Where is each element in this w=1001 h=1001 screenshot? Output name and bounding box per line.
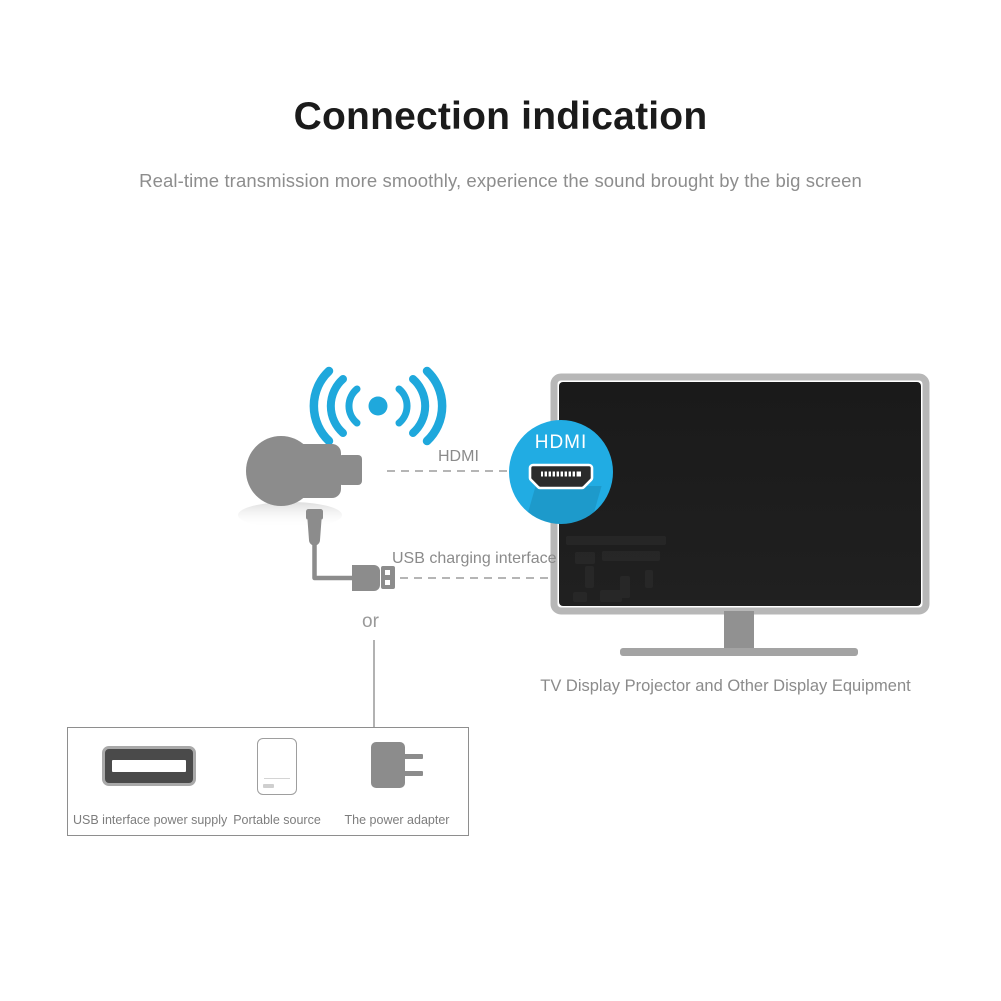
power-option-label: The power adapter bbox=[329, 813, 465, 827]
monitor-stand-base bbox=[620, 648, 858, 656]
portable-battery-icon bbox=[257, 738, 297, 795]
monitor-screen bbox=[559, 382, 921, 606]
page-subtitle: Real-time transmission more smoothly, ex… bbox=[0, 170, 1001, 192]
tv-monitor-icon bbox=[554, 377, 926, 656]
wifi-center-dot bbox=[369, 397, 388, 416]
power-options-box: USB interface power supply Portable sour… bbox=[67, 727, 469, 836]
power-cable bbox=[315, 540, 353, 578]
illustration-canvas: Connection indication Real-time transmis… bbox=[0, 0, 1001, 1001]
adapter-body bbox=[371, 742, 405, 788]
hdmi-badge-label: HDMI bbox=[509, 432, 613, 454]
power-option-label: Portable source bbox=[225, 813, 329, 827]
power-option-usb[interactable]: USB interface power supply bbox=[73, 728, 225, 837]
power-option-adapter[interactable]: The power adapter bbox=[329, 728, 465, 837]
hdmi-badge[interactable]: HDMI bbox=[509, 420, 613, 524]
usb-connection-label: USB charging interface bbox=[392, 550, 557, 568]
monitor-stand-neck bbox=[724, 611, 754, 653]
usb-port-icon bbox=[102, 746, 196, 786]
hdmi-dongle-icon bbox=[246, 436, 362, 506]
adapter-prong-top bbox=[404, 754, 423, 759]
power-option-portable[interactable]: Portable source bbox=[225, 728, 329, 837]
hdmi-connection-label: HDMI bbox=[438, 448, 479, 466]
wifi-waves-icon bbox=[314, 371, 442, 441]
power-adapter-icon bbox=[371, 740, 423, 792]
tv-caption: TV Display Projector and Other Display E… bbox=[0, 677, 1001, 696]
or-label: or bbox=[362, 611, 379, 633]
page-title: Connection indication bbox=[0, 96, 1001, 139]
usb-a-plug-icon bbox=[352, 565, 395, 591]
power-option-label: USB interface power supply bbox=[73, 813, 225, 827]
diagram-artwork bbox=[0, 0, 1001, 1001]
dongle-shadow bbox=[238, 502, 342, 528]
adapter-prong-bottom bbox=[404, 771, 423, 776]
hdmi-port-icon bbox=[528, 462, 594, 492]
